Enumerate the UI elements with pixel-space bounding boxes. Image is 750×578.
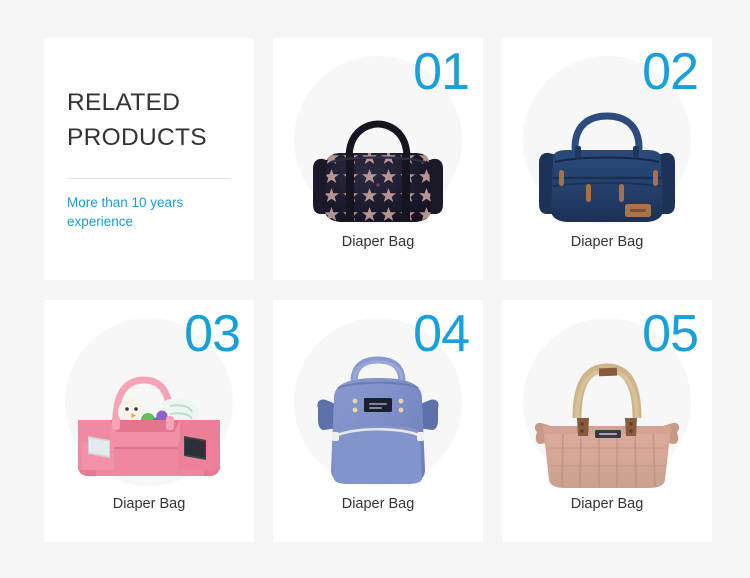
product-number-badge: 01 [413, 46, 469, 98]
product-label: Diaper Bag [502, 496, 712, 512]
product-number-badge: 02 [642, 46, 698, 98]
product-label: Diaper Bag [44, 496, 254, 512]
title-divider [67, 178, 231, 179]
section-subtitle: More than 10 years experience [67, 193, 227, 232]
product-number-badge: 05 [642, 308, 698, 360]
product-grid: RELATED PRODUCTS More than 10 years expe… [44, 38, 707, 542]
product-label: Diaper Bag [502, 234, 712, 250]
product-card-01[interactable]: 01 [273, 38, 483, 280]
section-title-card: RELATED PRODUCTS More than 10 years expe… [44, 38, 254, 280]
page-title: RELATED PRODUCTS [67, 86, 232, 156]
related-products-section: RELATED PRODUCTS More than 10 years expe… [0, 0, 750, 578]
product-number-badge: 04 [413, 308, 469, 360]
product-label: Diaper Bag [273, 234, 483, 250]
product-label: Diaper Bag [273, 496, 483, 512]
product-card-04[interactable]: 04 [273, 300, 483, 542]
product-card-05[interactable]: 05 [502, 300, 712, 542]
product-card-03[interactable]: 03 [44, 300, 254, 542]
product-number-badge: 03 [184, 308, 240, 360]
product-card-02[interactable]: 02 [502, 38, 712, 280]
